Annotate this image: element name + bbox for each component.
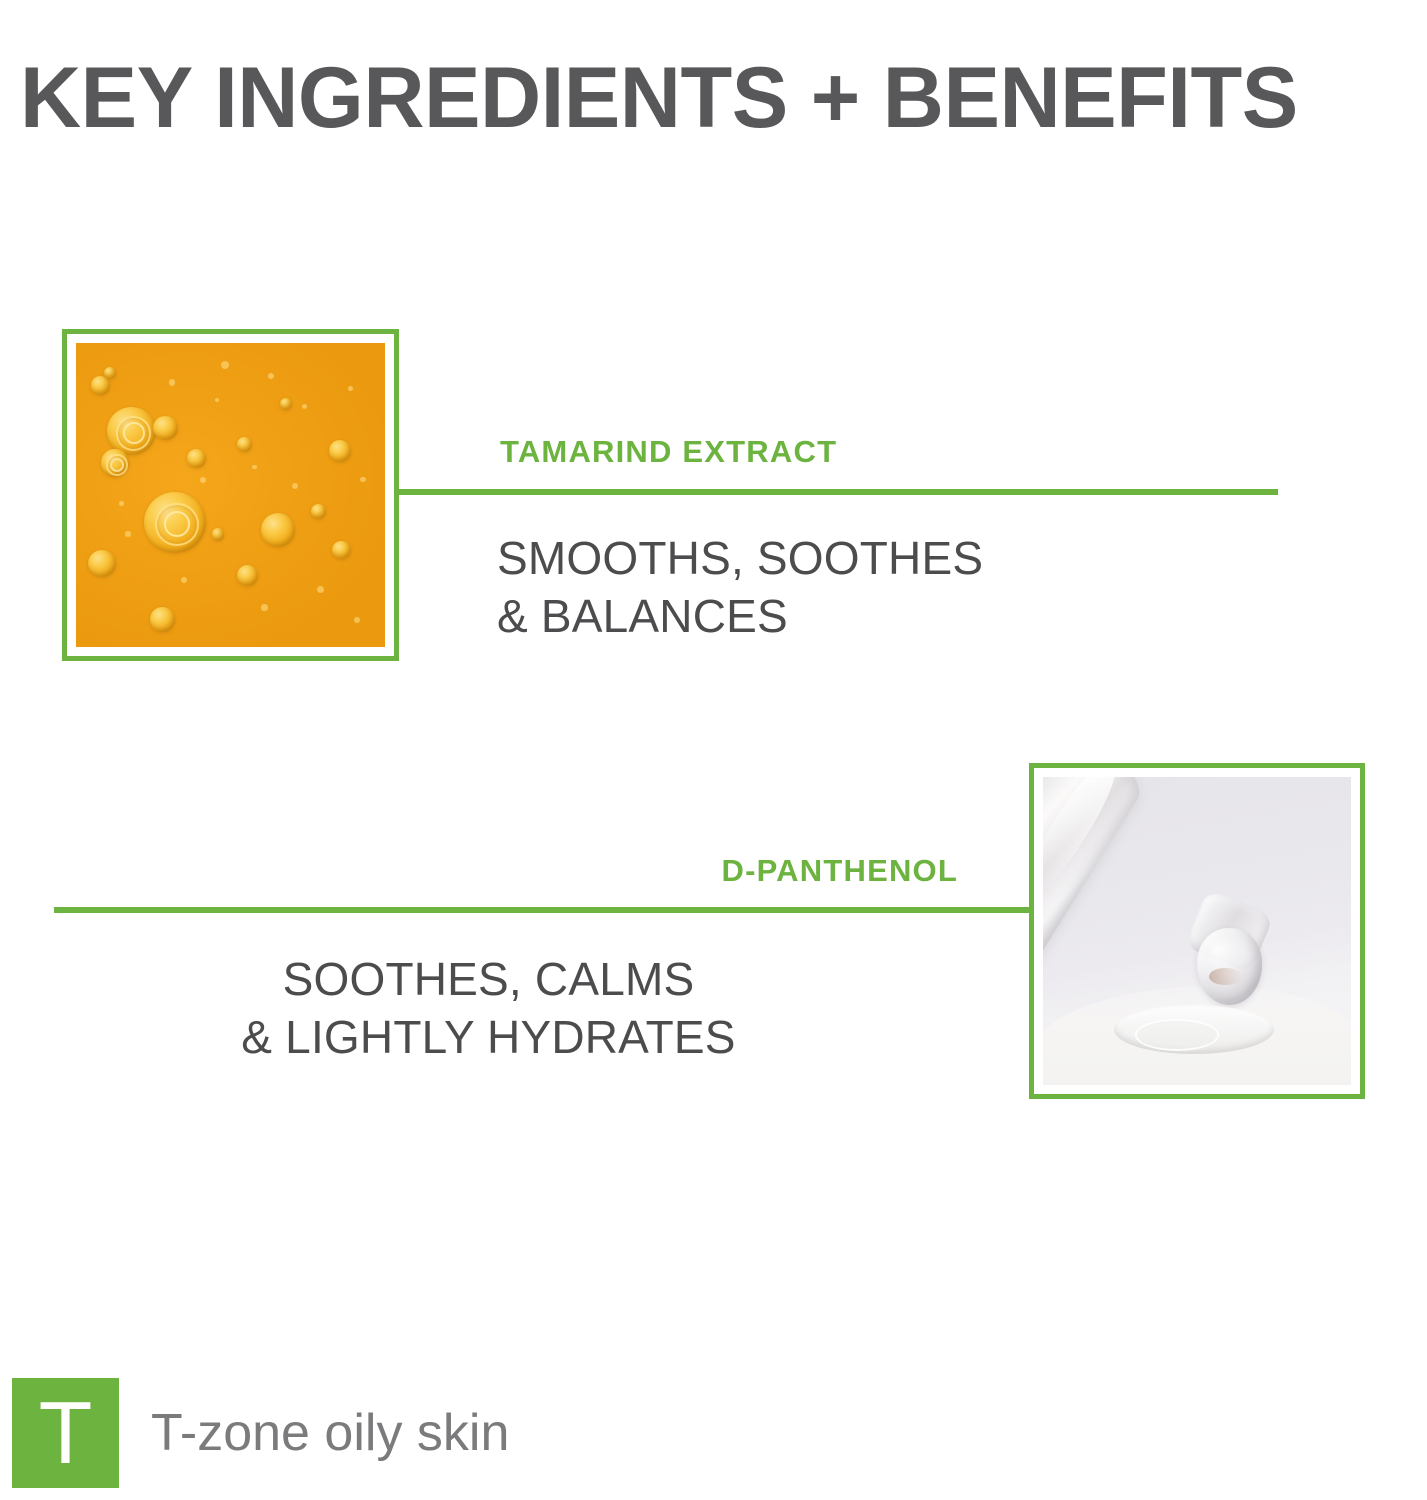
dropper-scene <box>1043 777 1351 1085</box>
tamarind-oil-image <box>76 343 385 647</box>
ingredient-name-tamarind: TAMARIND EXTRACT <box>500 434 837 470</box>
skin-type-footer: T T-zone oily skin <box>12 1378 509 1488</box>
connector-line-tamarind <box>398 489 1278 495</box>
key-ingredients-infographic: KEY INGREDIENTS + BENEFITS <box>0 0 1427 1500</box>
pipette-body <box>1043 777 1152 1006</box>
page-title: KEY INGREDIENTS + BENEFITS <box>20 52 1399 144</box>
connector-line-panthenol <box>54 907 1034 913</box>
badge-letter: T <box>12 1389 119 1477</box>
skin-type-label: T-zone oily skin <box>151 1403 509 1463</box>
ingredient-image-frame-tamarind <box>62 329 399 661</box>
oil-texture <box>76 343 385 647</box>
ingredient-name-panthenol: D-PANTHENOL <box>0 853 958 889</box>
t-zone-badge-icon: T <box>12 1378 119 1488</box>
ingredient-benefit-tamarind: SMOOTHS, SOOTHES & BALANCES <box>497 529 983 645</box>
panthenol-dropper-image <box>1043 777 1351 1085</box>
ingredient-image-frame-panthenol <box>1029 763 1365 1099</box>
liquid-droplet <box>1197 928 1262 1005</box>
ingredient-benefit-panthenol: SOOTHES, CALMS & LIGHTLY HYDRATES <box>0 950 977 1066</box>
